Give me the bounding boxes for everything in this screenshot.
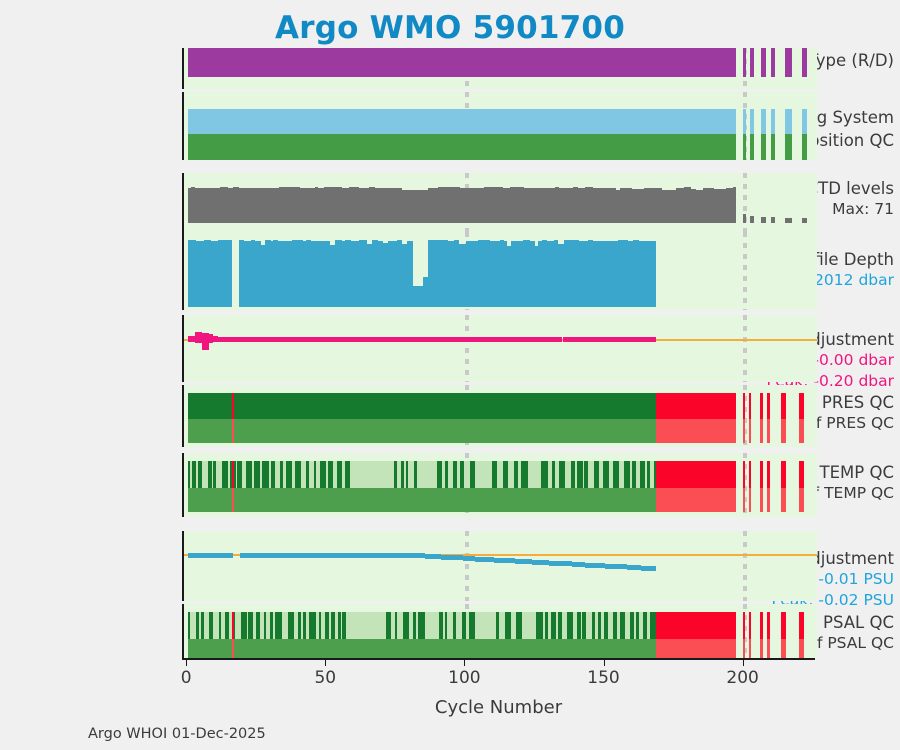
psal-adjustment-bar bbox=[654, 566, 655, 571]
qc-profile-good-stripe bbox=[394, 461, 398, 488]
profile-depth-bar bbox=[335, 240, 342, 307]
qc-profile-good-stripe bbox=[647, 461, 650, 488]
qc-profile-bad bbox=[767, 612, 770, 639]
ctd-level-bar bbox=[802, 218, 808, 223]
page-title: Argo WMO 5901700 bbox=[0, 10, 900, 46]
qc-profile-good-stripe bbox=[620, 612, 625, 639]
ctd-level-bar bbox=[743, 214, 746, 223]
ctd-level-bar bbox=[750, 216, 754, 223]
footer-credit: Argo WHOI 01-Dec-2025 bbox=[88, 726, 266, 742]
qc-profile-good-stripe bbox=[584, 461, 588, 488]
qc-mode-bad bbox=[656, 419, 737, 443]
qc-profile-good-stripe bbox=[470, 461, 475, 488]
qc-profile-good-stripe bbox=[598, 612, 601, 639]
x-tick-label: 100 bbox=[448, 668, 480, 688]
qc-profile-good-stripe bbox=[248, 612, 253, 639]
qc-profile-good-stripe bbox=[246, 461, 252, 488]
panel-positioning bbox=[182, 92, 817, 160]
ctd-level-bar bbox=[644, 188, 651, 223]
gridline-199 bbox=[743, 232, 747, 310]
gridline-100 bbox=[465, 315, 469, 382]
qc-mode-flag bbox=[232, 639, 235, 658]
qc-profile-good-stripe bbox=[613, 461, 619, 488]
qc-profile-good-stripe bbox=[496, 612, 500, 639]
psal-adjustment-bar bbox=[228, 553, 233, 558]
qc-profile-good-stripe bbox=[219, 612, 221, 639]
ctd-level-bar bbox=[257, 188, 265, 223]
chart-plot-area bbox=[182, 48, 815, 658]
qc-profile-good-stripe bbox=[319, 612, 321, 639]
qc-profile-good-stripe bbox=[275, 612, 281, 639]
qc-mode-bad bbox=[743, 488, 746, 512]
x-axis bbox=[182, 658, 815, 660]
psal-adjustment-bar bbox=[620, 564, 627, 569]
qc-profile-bad bbox=[767, 461, 770, 488]
qc-profile-bad bbox=[760, 612, 763, 639]
qc-profile-bad bbox=[799, 461, 805, 488]
qc-profile-good-stripe bbox=[445, 461, 448, 488]
qc-mode-bad bbox=[767, 488, 770, 512]
qc-profile-good-stripe bbox=[264, 612, 267, 639]
positioning-system-segment bbox=[188, 109, 736, 134]
positioning-system-segment bbox=[750, 109, 754, 134]
profile-depth-bar bbox=[471, 241, 478, 307]
qc-profile-good-stripe bbox=[192, 461, 196, 488]
qc-profile-bad bbox=[743, 461, 746, 488]
x-tick bbox=[186, 660, 187, 666]
x-axis-label: Cycle Number bbox=[182, 697, 815, 718]
qc-profile-good-stripe bbox=[295, 461, 301, 488]
pres-adjustment-bar bbox=[410, 337, 417, 342]
qc-profile-flag bbox=[232, 393, 235, 419]
ctd-level-bar bbox=[233, 187, 240, 223]
qc-profile-good-stripe bbox=[395, 612, 397, 639]
qc-profile-good-stripe bbox=[345, 461, 350, 488]
ctd-level-bar bbox=[771, 217, 775, 223]
qc-profile-good-stripe bbox=[636, 612, 639, 639]
qc-profile-good-stripe bbox=[306, 461, 309, 488]
qc-profile-good-stripe bbox=[337, 461, 343, 488]
ctd-level-bar bbox=[609, 188, 616, 223]
qc-mode-bad bbox=[781, 419, 787, 443]
qc-profile-good-stripe bbox=[309, 612, 316, 639]
qc-mode-bad bbox=[760, 639, 763, 658]
ctd-level-bar bbox=[662, 190, 670, 223]
psal-adjustment-bar bbox=[641, 566, 648, 571]
qc-mode-bad bbox=[799, 488, 805, 512]
qc-profile-good-stripe bbox=[209, 612, 213, 639]
ctd-level-bar bbox=[733, 187, 736, 223]
psal-adjustment-bar bbox=[309, 553, 316, 558]
qc-profile-flag bbox=[232, 612, 235, 639]
position-qc-segment bbox=[802, 134, 808, 160]
qc-profile-good-stripe bbox=[288, 612, 294, 639]
ctd-level-bar bbox=[246, 188, 254, 223]
x-tick-label: 0 bbox=[181, 668, 192, 688]
qc-profile-good-stripe bbox=[298, 612, 300, 639]
qc-profile-good-stripe bbox=[536, 612, 543, 639]
qc-mode-bad bbox=[781, 488, 787, 512]
profile-depth-bar bbox=[648, 241, 655, 307]
qc-profile-good-stripe bbox=[201, 612, 204, 639]
qc-mode-bad bbox=[799, 639, 805, 658]
qc-profile-good-stripe bbox=[314, 461, 317, 488]
qc-profile-bad bbox=[760, 461, 763, 488]
positioning-system-segment bbox=[771, 109, 775, 134]
ctd-level-bar bbox=[329, 187, 337, 223]
qc-profile-good-stripe bbox=[594, 461, 599, 488]
date-type-segment bbox=[743, 48, 746, 77]
qc-profile-good-stripe bbox=[514, 461, 518, 488]
qc-profile-bad bbox=[749, 612, 751, 639]
ctd-level-bar bbox=[585, 187, 593, 223]
qc-profile-good-stripe bbox=[188, 461, 190, 488]
position-qc-segment bbox=[188, 134, 736, 160]
ctd-level-bar bbox=[239, 188, 246, 223]
psal-adjustment-bar bbox=[261, 553, 268, 558]
date-type-segment bbox=[802, 48, 808, 77]
ctd-level-bar bbox=[271, 188, 279, 223]
ctd-level-bar bbox=[207, 188, 214, 223]
qc-profile-flag bbox=[232, 461, 235, 488]
profile-depth-bar bbox=[428, 240, 435, 307]
qc-profile-good-stripe bbox=[632, 461, 637, 488]
qc-mode-bad bbox=[749, 488, 751, 512]
qc-profile-good-stripe bbox=[503, 461, 508, 488]
panel-pres-qc bbox=[182, 385, 817, 447]
ctd-level-bar bbox=[632, 189, 640, 223]
date-type-segment bbox=[761, 48, 765, 77]
gridline-100 bbox=[465, 531, 469, 601]
qc-profile-good-stripe bbox=[241, 612, 247, 639]
qc-profile-good-stripe bbox=[254, 461, 260, 488]
ctd-level-bar bbox=[761, 217, 765, 223]
qc-profile-good-stripe bbox=[406, 461, 408, 488]
qc-profile-good-stripe bbox=[505, 612, 511, 639]
qc-profile-good-stripe bbox=[414, 461, 417, 488]
position-qc-segment bbox=[750, 134, 754, 160]
ctd-level-bar bbox=[510, 187, 517, 223]
qc-profile-bad bbox=[656, 461, 737, 488]
x-tick bbox=[743, 660, 744, 666]
panel-temp-qc bbox=[182, 453, 817, 517]
qc-profile-good-stripe bbox=[462, 612, 467, 639]
qc-profile-good-stripe bbox=[401, 461, 404, 488]
qc-mode-bad bbox=[656, 488, 737, 512]
qc-profile-bad bbox=[799, 612, 805, 639]
ctd-level-bar bbox=[651, 188, 658, 223]
qc-profile-bad bbox=[760, 393, 763, 419]
ctd-level-bar bbox=[375, 188, 383, 223]
qc-profile-good-stripe bbox=[552, 461, 555, 488]
qc-profile-good-stripe bbox=[521, 461, 528, 488]
ctd-level-bar bbox=[620, 188, 628, 223]
ctd-level-bar bbox=[428, 188, 435, 223]
qc-mode-bad bbox=[760, 488, 763, 512]
qc-profile-good-stripe bbox=[222, 461, 228, 488]
qc-profile-good-stripe bbox=[469, 612, 474, 639]
qc-profile-good-stripe bbox=[338, 612, 340, 639]
qc-mode-flag bbox=[232, 419, 235, 443]
qc-profile-bad bbox=[781, 393, 787, 419]
profile-depth-bar bbox=[229, 240, 232, 307]
qc-profile-good-stripe bbox=[280, 461, 283, 488]
qc-mode-bad bbox=[749, 419, 751, 443]
qc-profile-good-stripe bbox=[188, 612, 190, 639]
qc-mode-good bbox=[188, 419, 655, 443]
pres-adjustment-bar bbox=[655, 337, 656, 342]
qc-mode-flag bbox=[232, 488, 235, 512]
qc-profile-good-stripe bbox=[545, 612, 549, 639]
ctd-level-bar bbox=[476, 188, 484, 223]
qc-profile-good-stripe bbox=[604, 612, 609, 639]
qc-profile-bad bbox=[749, 461, 751, 488]
qc-profile-good-stripe bbox=[303, 612, 306, 639]
qc-profile-bad bbox=[743, 393, 746, 419]
qc-profile-good-stripe bbox=[208, 461, 212, 488]
panel-profile-depth bbox=[182, 232, 817, 310]
date-type-segment bbox=[188, 48, 736, 77]
ctd-level-bar bbox=[445, 187, 453, 223]
qc-profile-good-stripe bbox=[342, 612, 345, 639]
qc-profile-bad bbox=[781, 461, 787, 488]
qc-profile-good-stripe bbox=[577, 461, 583, 488]
psal-adjustment-bar bbox=[630, 565, 637, 570]
pres-adjustment-bar bbox=[439, 337, 445, 342]
qc-profile-good-stripe bbox=[286, 461, 292, 488]
position-qc-segment bbox=[785, 134, 792, 160]
qc-profile-good-stripe bbox=[551, 612, 556, 639]
qc-profile-good-stripe bbox=[571, 461, 575, 488]
qc-profile-good-stripe bbox=[516, 612, 522, 639]
ctd-level-bar bbox=[220, 187, 227, 223]
qc-profile-good-stripe bbox=[460, 461, 465, 488]
qc-profile-bad bbox=[781, 612, 787, 639]
qc-profile-good-stripe bbox=[437, 461, 442, 488]
ctd-level-bar bbox=[484, 187, 491, 223]
psal-adjustment-bar bbox=[456, 555, 462, 560]
gridline-199 bbox=[743, 315, 747, 382]
ctd-level-bar bbox=[676, 188, 684, 223]
ctd-level-bar bbox=[214, 188, 221, 223]
ctd-level-bar bbox=[308, 188, 315, 223]
qc-profile-good-stripe bbox=[541, 461, 548, 488]
profile-depth-bar bbox=[285, 241, 292, 307]
qc-profile-good-stripe bbox=[558, 612, 562, 639]
ctd-level-bar bbox=[284, 187, 291, 223]
pres-adjustment-bar bbox=[604, 337, 611, 342]
ctd-level-bar bbox=[600, 188, 608, 223]
qc-profile-good-stripe bbox=[386, 612, 391, 639]
positioning-system-segment bbox=[743, 109, 746, 134]
ctd-level-bar bbox=[566, 188, 573, 223]
positioning-system-segment bbox=[761, 109, 765, 134]
qc-profile-bad bbox=[767, 393, 770, 419]
qc-profile-good-stripe bbox=[624, 461, 630, 488]
qc-mode-bad bbox=[743, 639, 746, 658]
panel-ctd-levels bbox=[182, 173, 817, 235]
x-tick-label: 200 bbox=[726, 668, 758, 688]
qc-profile-good-stripe bbox=[492, 461, 497, 488]
profile-depth-bar bbox=[654, 241, 655, 307]
profile-depth-bar bbox=[441, 240, 448, 307]
qc-profile-good-stripe bbox=[640, 461, 645, 488]
qc-profile-bad bbox=[656, 612, 737, 639]
qc-profile-good-stripe bbox=[225, 612, 229, 639]
pres-adjustment-bar bbox=[509, 337, 516, 342]
psal-adjustment-bar bbox=[340, 553, 347, 558]
position-qc-segment bbox=[743, 134, 746, 160]
panel-pres-adjustment bbox=[182, 315, 817, 382]
qc-profile-good-stripe bbox=[613, 612, 617, 639]
qc-profile-good-stripe bbox=[439, 612, 442, 639]
qc-profile-good-stripe bbox=[328, 461, 333, 488]
qc-profile-good-stripe bbox=[630, 612, 634, 639]
psal-adjustment-bar bbox=[195, 553, 202, 558]
qc-mode-bad bbox=[767, 419, 770, 443]
qc-profile-good-stripe bbox=[196, 612, 198, 639]
ctd-level-bar bbox=[696, 190, 703, 223]
qc-profile-bad bbox=[749, 393, 751, 419]
pres-adjustment-bar bbox=[398, 337, 404, 342]
x-tick-label: 50 bbox=[314, 668, 336, 688]
ctd-level-bar bbox=[383, 188, 391, 223]
date-type-segment bbox=[771, 48, 775, 77]
date-type-segment bbox=[750, 48, 754, 77]
psal-adjustment-bar bbox=[572, 562, 579, 567]
qc-profile-good-stripe bbox=[453, 461, 457, 488]
x-tick bbox=[604, 660, 605, 666]
ctd-level-bar bbox=[785, 218, 792, 223]
psal-adjustment-bar bbox=[328, 553, 335, 558]
qc-profile-good-stripe bbox=[413, 612, 416, 639]
qc-profile-good-stripe bbox=[445, 612, 447, 639]
positioning-system-segment bbox=[785, 109, 792, 134]
profile-depth-bar bbox=[459, 244, 466, 307]
qc-profile-good-stripe bbox=[403, 612, 409, 639]
profile-depth-bar bbox=[244, 241, 251, 307]
qc-mode-bad bbox=[656, 639, 737, 658]
qc-profile-good-stripe bbox=[198, 461, 203, 488]
qc-profile-good-stripe bbox=[582, 612, 586, 639]
qc-profile-good-stripe bbox=[256, 612, 260, 639]
qc-mode-good bbox=[188, 488, 655, 512]
qc-mode-good bbox=[188, 639, 655, 658]
panel-date-type bbox=[182, 48, 817, 89]
x-tick bbox=[464, 660, 465, 666]
date-type-segment bbox=[785, 48, 792, 77]
positioning-system-segment bbox=[802, 109, 808, 134]
qc-profile-good-stripe bbox=[577, 612, 580, 639]
qc-profile-good-stripe bbox=[603, 461, 609, 488]
qc-profile-good bbox=[188, 393, 655, 419]
qc-profile-good-stripe bbox=[592, 612, 595, 639]
gridline-199 bbox=[743, 173, 747, 235]
qc-profile-good-stripe bbox=[567, 612, 573, 639]
profile-depth-bar bbox=[278, 241, 284, 307]
qc-profile-good-stripe bbox=[271, 461, 274, 488]
qc-mode-bad bbox=[760, 419, 763, 443]
qc-mode-bad bbox=[767, 639, 770, 658]
psal-adjustment-bar bbox=[245, 553, 251, 558]
ctd-level-bar bbox=[503, 188, 510, 223]
pres-adjustment-bar bbox=[378, 337, 384, 342]
qc-profile-good-stripe bbox=[559, 461, 565, 488]
qc-profile-good-stripe bbox=[320, 461, 326, 488]
qc-profile-good-stripe bbox=[418, 612, 425, 639]
qc-mode-bad bbox=[743, 419, 746, 443]
qc-profile-bad bbox=[799, 393, 805, 419]
ctd-level-bar bbox=[469, 188, 477, 223]
ctd-level-bar bbox=[593, 188, 601, 223]
qc-profile-good-stripe bbox=[213, 461, 215, 488]
qc-profile-good-stripe bbox=[237, 461, 242, 488]
gridline-199 bbox=[743, 531, 747, 601]
x-tick bbox=[325, 660, 326, 666]
qc-profile-good-stripe bbox=[453, 612, 456, 639]
qc-mode-bad bbox=[799, 419, 805, 443]
ctd-level-bar bbox=[517, 187, 525, 223]
ctd-axis-tick bbox=[182, 186, 184, 188]
qc-profile-bad bbox=[656, 393, 737, 419]
ctd-level-bar bbox=[402, 190, 410, 223]
qc-profile-good-stripe bbox=[270, 612, 273, 639]
psal-adjustment-bar bbox=[375, 553, 382, 558]
x-tick-label: 150 bbox=[587, 668, 619, 688]
profile-depth-bar bbox=[611, 241, 618, 307]
qc-profile-good-stripe bbox=[325, 612, 330, 639]
pres-adjustment-bar bbox=[598, 337, 605, 342]
panel-psal-adjustment bbox=[182, 531, 817, 601]
ctd-level-bar bbox=[195, 188, 202, 223]
qc-profile-good-stripe bbox=[331, 612, 336, 639]
qc-mode-bad bbox=[781, 639, 787, 658]
psal-adjustment-bar bbox=[558, 561, 565, 566]
qc-profile-good-stripe bbox=[262, 461, 269, 488]
qc-profile-bad bbox=[743, 612, 746, 639]
qc-profile-good-stripe bbox=[643, 612, 647, 639]
psal-adjustment-bar bbox=[551, 561, 558, 566]
ctd-level-bar bbox=[300, 188, 308, 223]
panel-psal-qc bbox=[182, 604, 817, 658]
position-qc-segment bbox=[771, 134, 775, 160]
ctd-level-bar bbox=[410, 190, 417, 223]
position-qc-segment bbox=[761, 134, 765, 160]
qc-mode-bad bbox=[749, 639, 751, 658]
ctd-level-bar bbox=[726, 188, 733, 223]
